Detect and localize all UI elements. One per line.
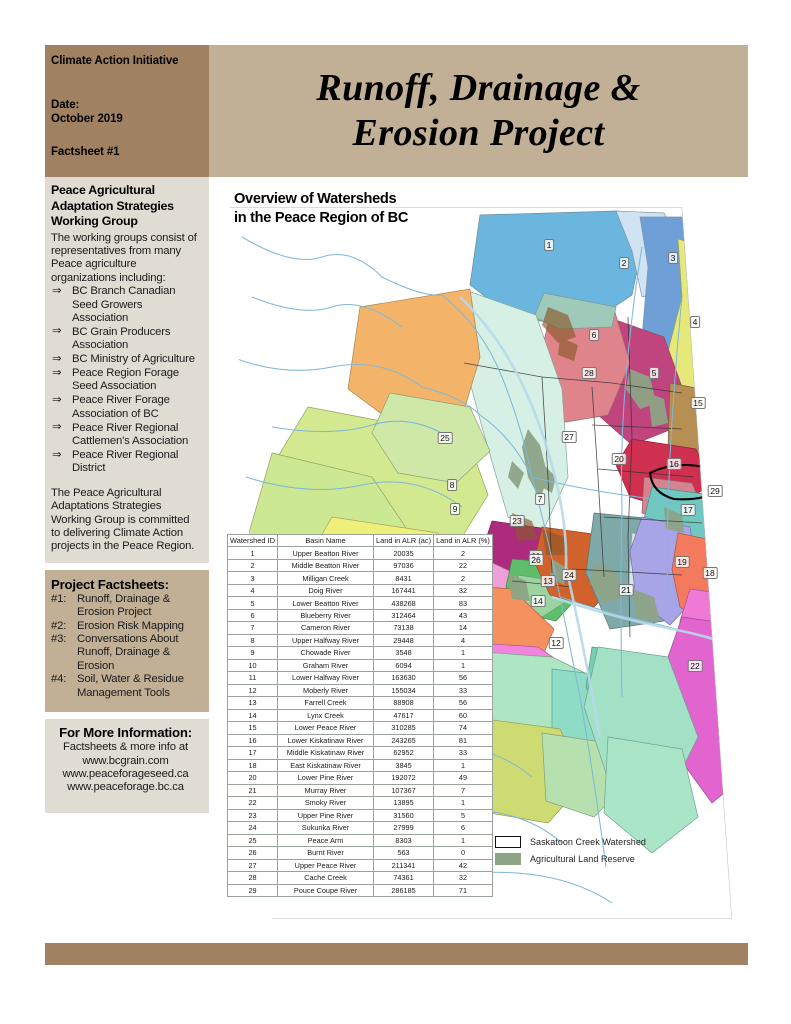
list-item[interactable]: #1:Runoff, Drainage & Erosion Project (51, 593, 200, 620)
cell-land-alr-ac: 211341 (374, 859, 434, 871)
watershed-label-19[interactable]: 19 (675, 556, 690, 568)
cell-land-alr-pct: 7 (434, 784, 493, 796)
cell-land-alr-ac: 88908 (374, 697, 434, 709)
cell-watershed-id: 22 (228, 797, 278, 809)
watershed-table: Watershed ID Basin Name Land in ALR (ac)… (227, 534, 493, 897)
cell-basin-name: Pouce Coupe River (278, 884, 374, 896)
cell-basin-name: Middle Kiskatinaw River (278, 747, 374, 759)
working-group-heading-line3: Working Group (51, 214, 138, 228)
cell-land-alr-pct: 49 (434, 772, 493, 784)
cell-watershed-id: 12 (228, 684, 278, 696)
cell-basin-name: Lower Peace River (278, 722, 374, 734)
member-label: Peace River Regional District (72, 449, 178, 474)
working-group-member-list: ⇒BC Branch Canadian Seed Growers Associa… (51, 285, 200, 476)
list-item: ⇒Peace River Regional Cattlemen's Associ… (51, 422, 200, 449)
watershed-label-2[interactable]: 2 (619, 257, 629, 269)
more-information-intro: Factsheets & more info at (51, 741, 200, 754)
cell-watershed-id: 18 (228, 759, 278, 771)
cell-watershed-id: 26 (228, 847, 278, 859)
cell-basin-name: Graham River (278, 659, 374, 671)
table-header: Watershed ID Basin Name Land in ALR (ac)… (228, 535, 493, 547)
factsheet-number: Factsheet #1 (51, 145, 209, 159)
double-arrow-icon: ⇒ (52, 449, 62, 462)
cell-basin-name: Middle Beatton River (278, 559, 374, 571)
cell-watershed-id: 5 (228, 597, 278, 609)
factsheet-page: Climate Action Initiative Date: October … (0, 0, 791, 1024)
double-arrow-icon: ⇒ (52, 367, 62, 380)
website-link-bcgrain[interactable]: www.bcgrain.com (51, 755, 200, 768)
table-row: 14Lynx Creek4761760 (228, 709, 493, 721)
list-item: ⇒BC Grain Producers Association (51, 326, 200, 353)
cell-land-alr-pct: 71 (434, 884, 493, 896)
watershed-label-28[interactable]: 28 (582, 367, 597, 379)
list-item: ⇒Peace River Regional District (51, 449, 200, 476)
watershed-label-26[interactable]: 26 (529, 554, 544, 566)
cell-watershed-id: 29 (228, 884, 278, 896)
column-header-watershed-id: Watershed ID (228, 535, 278, 547)
watershed-label-13[interactable]: 13 (541, 575, 556, 587)
cell-watershed-id: 28 (228, 872, 278, 884)
factsheet-label: Soil, Water & Residue Management Tools (77, 673, 184, 698)
table-body: 1Upper Beatton River2003522Middle Beatto… (228, 547, 493, 897)
watershed-label-9[interactable]: 9 (450, 503, 460, 515)
cell-watershed-id: 16 (228, 734, 278, 746)
cell-watershed-id: 27 (228, 859, 278, 871)
legend-row-saskatoon: Saskatoon Creek Watershed (495, 836, 646, 848)
cell-watershed-id: 10 (228, 659, 278, 671)
more-information-panel: For More Information: Factsheets & more … (45, 719, 209, 813)
cell-land-alr-ac: 3845 (374, 759, 434, 771)
table-row: 5Lower Beatton River43826883 (228, 597, 493, 609)
table-row: 18East Kiskatinaw River38451 (228, 759, 493, 771)
cell-land-alr-pct: 1 (434, 647, 493, 659)
cell-land-alr-ac: 438268 (374, 597, 434, 609)
cell-land-alr-pct: 6 (434, 822, 493, 834)
website-link-peaceforageseed[interactable]: www.peaceforageseed.ca (51, 768, 200, 781)
table-row: 4Doig River16744132 (228, 584, 493, 596)
page-title: Runoff, Drainage & Erosion Project (316, 66, 640, 156)
page-title-line2: Erosion Project (316, 111, 640, 156)
legend-swatch-outline-icon (495, 836, 521, 848)
watershed-label-15[interactable]: 15 (691, 397, 706, 409)
factsheet-number-label: #4: (51, 673, 66, 686)
cell-land-alr-pct: 0 (434, 847, 493, 859)
cell-basin-name: Chowade River (278, 647, 374, 659)
cell-land-alr-pct: 81 (434, 734, 493, 746)
cell-land-alr-ac: 13895 (374, 797, 434, 809)
project-factsheets-title: Project Factsheets: (51, 577, 200, 592)
table-row: 25Peace Arm83031 (228, 834, 493, 846)
double-arrow-icon: ⇒ (52, 394, 62, 407)
factsheet-label: Conversations About Runoff, Drainage & E… (77, 633, 178, 672)
organization-name: Climate Action Initiative (51, 54, 209, 68)
project-factsheets-list: #1:Runoff, Drainage & Erosion Project #2… (51, 593, 200, 700)
cell-basin-name: Lynx Creek (278, 709, 374, 721)
watershed-label-25[interactable]: 25 (438, 432, 453, 444)
cell-watershed-id: 24 (228, 822, 278, 834)
more-information-title: For More Information: (51, 725, 200, 740)
table-row: 26Burnt River5630 (228, 847, 493, 859)
cell-land-alr-pct: 1 (434, 834, 493, 846)
list-item: ⇒BC Branch Canadian Seed Growers Associa… (51, 285, 200, 325)
table-row: 15Lower Peace River31028574 (228, 722, 493, 734)
working-group-heading-line2: Adaptation Strategies (51, 199, 174, 213)
cell-land-alr-pct: 2 (434, 547, 493, 559)
cell-land-alr-pct: 60 (434, 709, 493, 721)
cell-watershed-id: 20 (228, 772, 278, 784)
cell-basin-name: Farrell Creek (278, 697, 374, 709)
cell-land-alr-pct: 32 (434, 584, 493, 596)
watershed-label-18[interactable]: 18 (703, 567, 718, 579)
member-label: BC Ministry of Agriculture (72, 353, 195, 365)
list-item: ⇒BC Ministry of Agriculture (51, 353, 200, 366)
header-meta-block: Climate Action Initiative Date: October … (45, 45, 209, 177)
member-label: Peace River Forage Association of BC (72, 394, 170, 419)
cell-basin-name: Blueberry River (278, 609, 374, 621)
cell-basin-name: Burnt River (278, 847, 374, 859)
legend-row-alr: Agricultural Land Reserve (495, 853, 646, 865)
factsheet-number-label: #1: (51, 593, 66, 606)
watershed-label-16[interactable]: 16 (667, 458, 682, 470)
cell-land-alr-pct: 2 (434, 572, 493, 584)
table-row: 6Blueberry River31246443 (228, 609, 493, 621)
watershed-label-21[interactable]: 21 (619, 584, 634, 596)
column-header-land-alr-ac: Land in ALR (ac) (374, 535, 434, 547)
cell-watershed-id: 3 (228, 572, 278, 584)
cell-watershed-id: 23 (228, 809, 278, 821)
cell-land-alr-ac: 192072 (374, 772, 434, 784)
table-row: 17Middle Kiskatinaw River6295233 (228, 747, 493, 759)
working-group-panel: Peace Agricultural Adaptation Strategies… (45, 177, 209, 563)
cell-land-alr-pct: 5 (434, 809, 493, 821)
cell-basin-name: Smoky River (278, 797, 374, 809)
legend-swatch-fill-icon (495, 853, 521, 865)
watershed-label-17[interactable]: 17 (681, 504, 696, 516)
cell-basin-name: Milligan Creek (278, 572, 374, 584)
sidebar-divider-1 (45, 563, 209, 570)
member-label: BC Branch Canadian Seed Growers Associat… (72, 285, 175, 324)
working-group-heading-line1: Peace Agricultural (51, 183, 155, 197)
table-row: 11Lower Halfway River16363056 (228, 672, 493, 684)
cell-basin-name: Cameron River (278, 622, 374, 634)
cell-land-alr-pct: 74 (434, 722, 493, 734)
cell-land-alr-ac: 8431 (374, 572, 434, 584)
column-header-land-alr-pct: Land in ALR (%) (434, 535, 493, 547)
table-row: 23Upper Pine River315605 (228, 809, 493, 821)
watershed-label-14[interactable]: 14 (531, 595, 546, 607)
cell-watershed-id: 15 (228, 722, 278, 734)
cell-land-alr-pct: 1 (434, 759, 493, 771)
cell-basin-name: East Kiskatinaw River (278, 759, 374, 771)
cell-land-alr-ac: 31560 (374, 809, 434, 821)
table-row: 27Upper Peace River21134142 (228, 859, 493, 871)
cell-land-alr-pct: 33 (434, 747, 493, 759)
cell-land-alr-pct: 1 (434, 797, 493, 809)
factsheet-label: Erosion Risk Mapping (77, 620, 184, 632)
cell-watershed-id: 6 (228, 609, 278, 621)
cell-land-alr-pct: 14 (434, 622, 493, 634)
column-header-basin-name: Basin Name (278, 535, 374, 547)
cell-land-alr-ac: 312464 (374, 609, 434, 621)
member-label: BC Grain Producers Association (72, 326, 170, 351)
cell-basin-name: Doig River (278, 584, 374, 596)
cell-watershed-id: 2 (228, 559, 278, 571)
cell-watershed-id: 13 (228, 697, 278, 709)
cell-basin-name: Peace Arm (278, 834, 374, 846)
watershed-label-22[interactable]: 22 (688, 660, 703, 672)
table-row: 21Murray River1073677 (228, 784, 493, 796)
cell-land-alr-pct: 83 (434, 597, 493, 609)
cell-basin-name: Lower Kiskatinaw River (278, 734, 374, 746)
watershed-label-29[interactable]: 29 (708, 485, 723, 497)
watershed-label-20[interactable]: 20 (612, 453, 627, 465)
watershed-label-4[interactable]: 4 (690, 316, 700, 328)
watershed-table-container: Watershed ID Basin Name Land in ALR (ac)… (227, 534, 493, 897)
cell-watershed-id: 7 (228, 622, 278, 634)
watershed-label-6[interactable]: 6 (589, 329, 599, 341)
cell-land-alr-ac: 155034 (374, 684, 434, 696)
commitment-paragraph: The Peace Agricultural Adaptations Strat… (51, 487, 200, 554)
cell-watershed-id: 14 (228, 709, 278, 721)
cell-basin-name: Upper Pine River (278, 809, 374, 821)
table-row: 29Pouce Coupe River28618571 (228, 884, 493, 896)
cell-land-alr-ac: 27999 (374, 822, 434, 834)
page-footer-bar (45, 943, 748, 965)
website-link-peaceforage[interactable]: www.peaceforage.bc.ca (51, 781, 200, 794)
cell-land-alr-ac: 310285 (374, 722, 434, 734)
double-arrow-icon: ⇒ (52, 325, 62, 338)
cell-land-alr-ac: 243265 (374, 734, 434, 746)
cell-land-alr-pct: 56 (434, 697, 493, 709)
table-row: 22Smoky River138951 (228, 797, 493, 809)
cell-watershed-id: 17 (228, 747, 278, 759)
cell-land-alr-pct: 42 (434, 859, 493, 871)
cell-land-alr-ac: 74361 (374, 872, 434, 884)
working-group-heading: Peace Agricultural Adaptation Strategies… (51, 183, 200, 230)
cell-land-alr-ac: 286185 (374, 884, 434, 896)
cell-land-alr-ac: 163630 (374, 672, 434, 684)
cell-land-alr-pct: 33 (434, 684, 493, 696)
cell-land-alr-pct: 4 (434, 634, 493, 646)
cell-land-alr-pct: 1 (434, 659, 493, 671)
page-header: Climate Action Initiative Date: October … (45, 45, 748, 177)
cell-basin-name: Upper Peace River (278, 859, 374, 871)
cell-land-alr-ac: 73138 (374, 622, 434, 634)
project-factsheets-panel: Project Factsheets: #1:Runoff, Drainage … (45, 570, 209, 712)
cell-basin-name: Lower Halfway River (278, 672, 374, 684)
cell-land-alr-ac: 3548 (374, 647, 434, 659)
cell-land-alr-ac: 6094 (374, 659, 434, 671)
cell-land-alr-ac: 29448 (374, 634, 434, 646)
cell-land-alr-pct: 32 (434, 872, 493, 884)
cell-basin-name: Lower Pine River (278, 772, 374, 784)
table-row: 3Milligan Creek84312 (228, 572, 493, 584)
cell-basin-name: Moberly River (278, 684, 374, 696)
cell-land-alr-ac: 107367 (374, 784, 434, 796)
watershed-label-7[interactable]: 7 (535, 493, 545, 505)
cell-watershed-id: 9 (228, 647, 278, 659)
watershed-label-8[interactable]: 8 (447, 479, 457, 491)
table-row: 8Upper Halfway River294484 (228, 634, 493, 646)
table-row: 10Graham River60941 (228, 659, 493, 671)
watershed-label-12[interactable]: 12 (549, 637, 564, 649)
header-title-block: Runoff, Drainage & Erosion Project (209, 45, 748, 177)
table-row: 24Sukunka River279996 (228, 822, 493, 834)
table-row: 20Lower Pine River19207249 (228, 772, 493, 784)
list-item: ⇒Peace River Forage Association of BC (51, 394, 200, 421)
page-title-line1: Runoff, Drainage & (316, 66, 640, 111)
cell-land-alr-ac: 167441 (374, 584, 434, 596)
map-title-line2: in the Peace Region of BC (234, 209, 408, 228)
table-row: 16Lower Kiskatinaw River24326581 (228, 734, 493, 746)
watershed-label-27[interactable]: 27 (562, 431, 577, 443)
list-item[interactable]: #3:Conversations About Runoff, Drainage … (51, 633, 200, 673)
cell-land-alr-pct: 43 (434, 609, 493, 621)
cell-basin-name: Upper Beatton River (278, 547, 374, 559)
cell-basin-name: Upper Halfway River (278, 634, 374, 646)
table-row: 1Upper Beatton River200352 (228, 547, 493, 559)
watershed-label-1[interactable]: 1 (544, 239, 554, 251)
list-item: ⇒Peace Region Forage Seed Association (51, 367, 200, 394)
table-row: 13Farrell Creek8890856 (228, 697, 493, 709)
sidebar: Peace Agricultural Adaptation Strategies… (45, 177, 209, 813)
cell-land-alr-ac: 97036 (374, 559, 434, 571)
factsheet-label: Runoff, Drainage & Erosion Project (77, 593, 170, 618)
legend-label: Saskatoon Creek Watershed (530, 837, 646, 847)
cell-land-alr-pct: 22 (434, 559, 493, 571)
cell-watershed-id: 21 (228, 784, 278, 796)
cell-land-alr-ac: 563 (374, 847, 434, 859)
table-row: 12Moberly River15503433 (228, 684, 493, 696)
table-row: 9Chowade River35481 (228, 647, 493, 659)
cell-land-alr-ac: 8303 (374, 834, 434, 846)
cell-watershed-id: 11 (228, 672, 278, 684)
table-row: 2Middle Beatton River9703622 (228, 559, 493, 571)
map-legend: Saskatoon Creek Watershed Agricultural L… (495, 836, 646, 870)
member-label: Peace Region Forage Seed Association (72, 367, 179, 392)
working-group-intro: The working groups consist of representa… (51, 232, 200, 286)
date-label: Date: (51, 98, 209, 112)
table-row: 28Cache Creek7436132 (228, 872, 493, 884)
cell-watershed-id: 1 (228, 547, 278, 559)
map-title: Overview of Watersheds in the Peace Regi… (234, 190, 408, 228)
double-arrow-icon: ⇒ (52, 285, 62, 298)
factsheet-number-label: #2: (51, 620, 66, 633)
cell-land-alr-ac: 47617 (374, 709, 434, 721)
table-row: 7Cameron River7313814 (228, 622, 493, 634)
factsheet-number-label: #3: (51, 633, 66, 646)
list-item[interactable]: #2:Erosion Risk Mapping (51, 620, 200, 633)
legend-label: Agricultural Land Reserve (530, 854, 635, 864)
cell-watershed-id: 25 (228, 834, 278, 846)
list-item[interactable]: #4:Soil, Water & Residue Management Tool… (51, 673, 200, 700)
cell-basin-name: Cache Creek (278, 872, 374, 884)
double-arrow-icon: ⇒ (52, 353, 62, 366)
watershed-label-24[interactable]: 24 (562, 569, 577, 581)
cell-basin-name: Lower Beatton River (278, 597, 374, 609)
cell-basin-name: Sukunka River (278, 822, 374, 834)
map-title-line1: Overview of Watersheds (234, 190, 408, 209)
double-arrow-icon: ⇒ (52, 421, 62, 434)
watershed-label-3[interactable]: 3 (668, 252, 678, 264)
cell-land-alr-ac: 20035 (374, 547, 434, 559)
cell-watershed-id: 4 (228, 584, 278, 596)
table-header-row: Watershed ID Basin Name Land in ALR (ac)… (228, 535, 493, 547)
cell-land-alr-ac: 62952 (374, 747, 434, 759)
cell-basin-name: Murray River (278, 784, 374, 796)
watershed-label-5[interactable]: 5 (649, 367, 659, 379)
cell-watershed-id: 8 (228, 634, 278, 646)
watershed-label-23[interactable]: 23 (510, 515, 525, 527)
sidebar-divider-2 (45, 712, 209, 719)
cell-land-alr-pct: 56 (434, 672, 493, 684)
date-value: October 2019 (51, 112, 209, 126)
member-label: Peace River Regional Cattlemen's Associa… (72, 422, 188, 447)
